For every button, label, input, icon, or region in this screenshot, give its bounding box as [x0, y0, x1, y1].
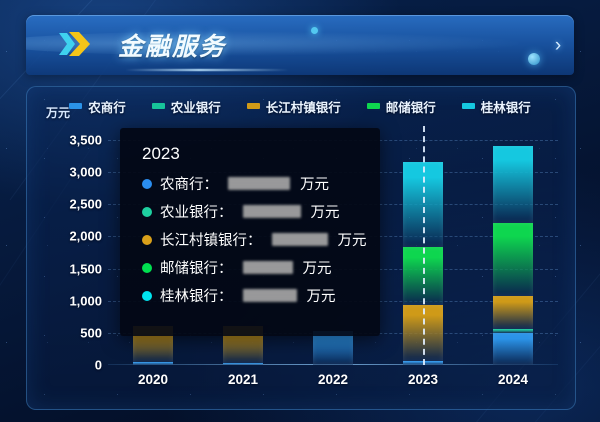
tooltip-series-dot-icon	[142, 235, 152, 245]
tooltip-row-1: 农业银行：万元	[142, 201, 380, 222]
tooltip-series-name: 桂林银行：	[160, 285, 233, 306]
y-axis: 3,5003,0002,5002,0001,5001,0005000	[26, 140, 102, 365]
legend-label: 农业银行	[171, 97, 221, 116]
legend-item-2[interactable]: 长江村镇银行	[247, 97, 341, 116]
tooltip-series-unit: 万元	[300, 173, 329, 194]
legend-label: 邮储银行	[386, 97, 436, 116]
x-axis-tick-label: 2022	[318, 372, 348, 387]
tooltip-series-dot-icon	[142, 263, 152, 273]
tooltip-series-value-redacted	[228, 177, 290, 190]
page-title: 金融服务	[118, 27, 226, 63]
y-axis-tick-label: 500	[80, 325, 102, 340]
y-axis-tick-label: 2,500	[69, 197, 102, 212]
y-axis-tick-label: 1,000	[69, 293, 102, 308]
tooltip-series-name: 长江村镇银行：	[160, 229, 262, 250]
tooltip-row-2: 长江村镇银行：万元	[142, 229, 380, 250]
tooltip-series-dot-icon	[142, 207, 152, 217]
bar-segment	[493, 146, 533, 223]
page-header: 金融服务 ›	[26, 15, 574, 75]
legend-item-4[interactable]: 桂林银行	[462, 97, 531, 116]
y-axis-unit-label: 万元	[46, 104, 70, 121]
tooltip-series-dot-icon	[142, 291, 152, 301]
bar-segment	[133, 362, 173, 365]
bar-segment	[493, 333, 533, 365]
header-glow-dot-small	[311, 27, 318, 34]
y-axis-tick-label: 3,500	[69, 133, 102, 148]
tooltip-series-value-redacted	[243, 261, 293, 274]
legend-item-1[interactable]: 农业银行	[152, 97, 221, 116]
y-axis-tick-label: 3,000	[69, 165, 102, 180]
chart-tooltip: 2023 农商行：万元农业银行：万元长江村镇银行：万元邮储银行：万元桂林银行：万…	[120, 128, 380, 336]
tooltip-series-value-redacted	[272, 233, 328, 246]
x-axis: 20202021202220232024	[108, 372, 558, 392]
x-axis-tick-label: 2023	[408, 372, 438, 387]
legend-swatch-icon	[152, 103, 165, 109]
tooltip-series-value-redacted	[243, 205, 301, 218]
tooltip-row-3: 邮储银行：万元	[142, 257, 380, 278]
tooltip-rows: 农商行：万元农业银行：万元长江村镇银行：万元邮储银行：万元桂林银行：万元	[120, 173, 380, 306]
legend-item-0[interactable]: 农商行	[69, 97, 126, 116]
legend-swatch-icon	[462, 103, 475, 109]
tooltip-row-4: 桂林银行：万元	[142, 285, 380, 306]
bar-segment	[313, 331, 353, 365]
y-axis-tick-label: 1,500	[69, 261, 102, 276]
tooltip-title: 2023	[142, 144, 380, 164]
y-axis-tick-label: 0	[95, 358, 102, 373]
header-sheen	[26, 31, 519, 56]
tooltip-series-name: 邮储银行：	[160, 257, 233, 278]
app-screen: 金融服务 › 农商行农业银行长江村镇银行邮储银行桂林银行 万元 3,5003,0…	[0, 0, 600, 422]
bar-2022[interactable]	[313, 331, 353, 365]
tooltip-series-unit: 万元	[303, 257, 332, 278]
header-glow-dot-large	[528, 53, 540, 65]
legend-label: 农商行	[88, 97, 126, 116]
tooltip-series-unit: 万元	[307, 285, 336, 306]
bar-segment	[493, 223, 533, 296]
bar-2024[interactable]	[493, 146, 533, 365]
legend-item-3[interactable]: 邮储银行	[367, 97, 436, 116]
legend-swatch-icon	[247, 103, 260, 109]
x-axis-tick-label: 2021	[228, 372, 258, 387]
tooltip-series-name: 农业银行：	[160, 201, 233, 222]
tooltip-series-unit: 万元	[311, 201, 340, 222]
double-chevron-arrow-icon	[58, 29, 92, 59]
legend-swatch-icon	[367, 103, 380, 109]
tooltip-series-name: 农商行：	[160, 173, 218, 194]
y-axis-tick-label: 2,000	[69, 229, 102, 244]
bar-segment	[493, 296, 533, 329]
x-axis-tick-label: 2024	[498, 372, 528, 387]
bar-segment	[223, 363, 263, 365]
legend-label: 桂林银行	[481, 97, 531, 116]
hover-marker-line	[423, 126, 425, 365]
legend-swatch-icon	[69, 103, 82, 109]
tooltip-series-value-redacted	[243, 289, 297, 302]
tooltip-series-unit: 万元	[338, 229, 367, 250]
tooltip-row-0: 农商行：万元	[142, 173, 380, 194]
next-page-chevron-right-icon[interactable]: ›	[548, 33, 568, 59]
header-underline	[125, 69, 289, 71]
legend-label: 长江村镇银行	[266, 97, 341, 116]
tooltip-series-dot-icon	[142, 179, 152, 189]
x-axis-tick-label: 2020	[138, 372, 168, 387]
chart-legend: 农商行农业银行长江村镇银行邮储银行桂林银行	[26, 96, 574, 116]
